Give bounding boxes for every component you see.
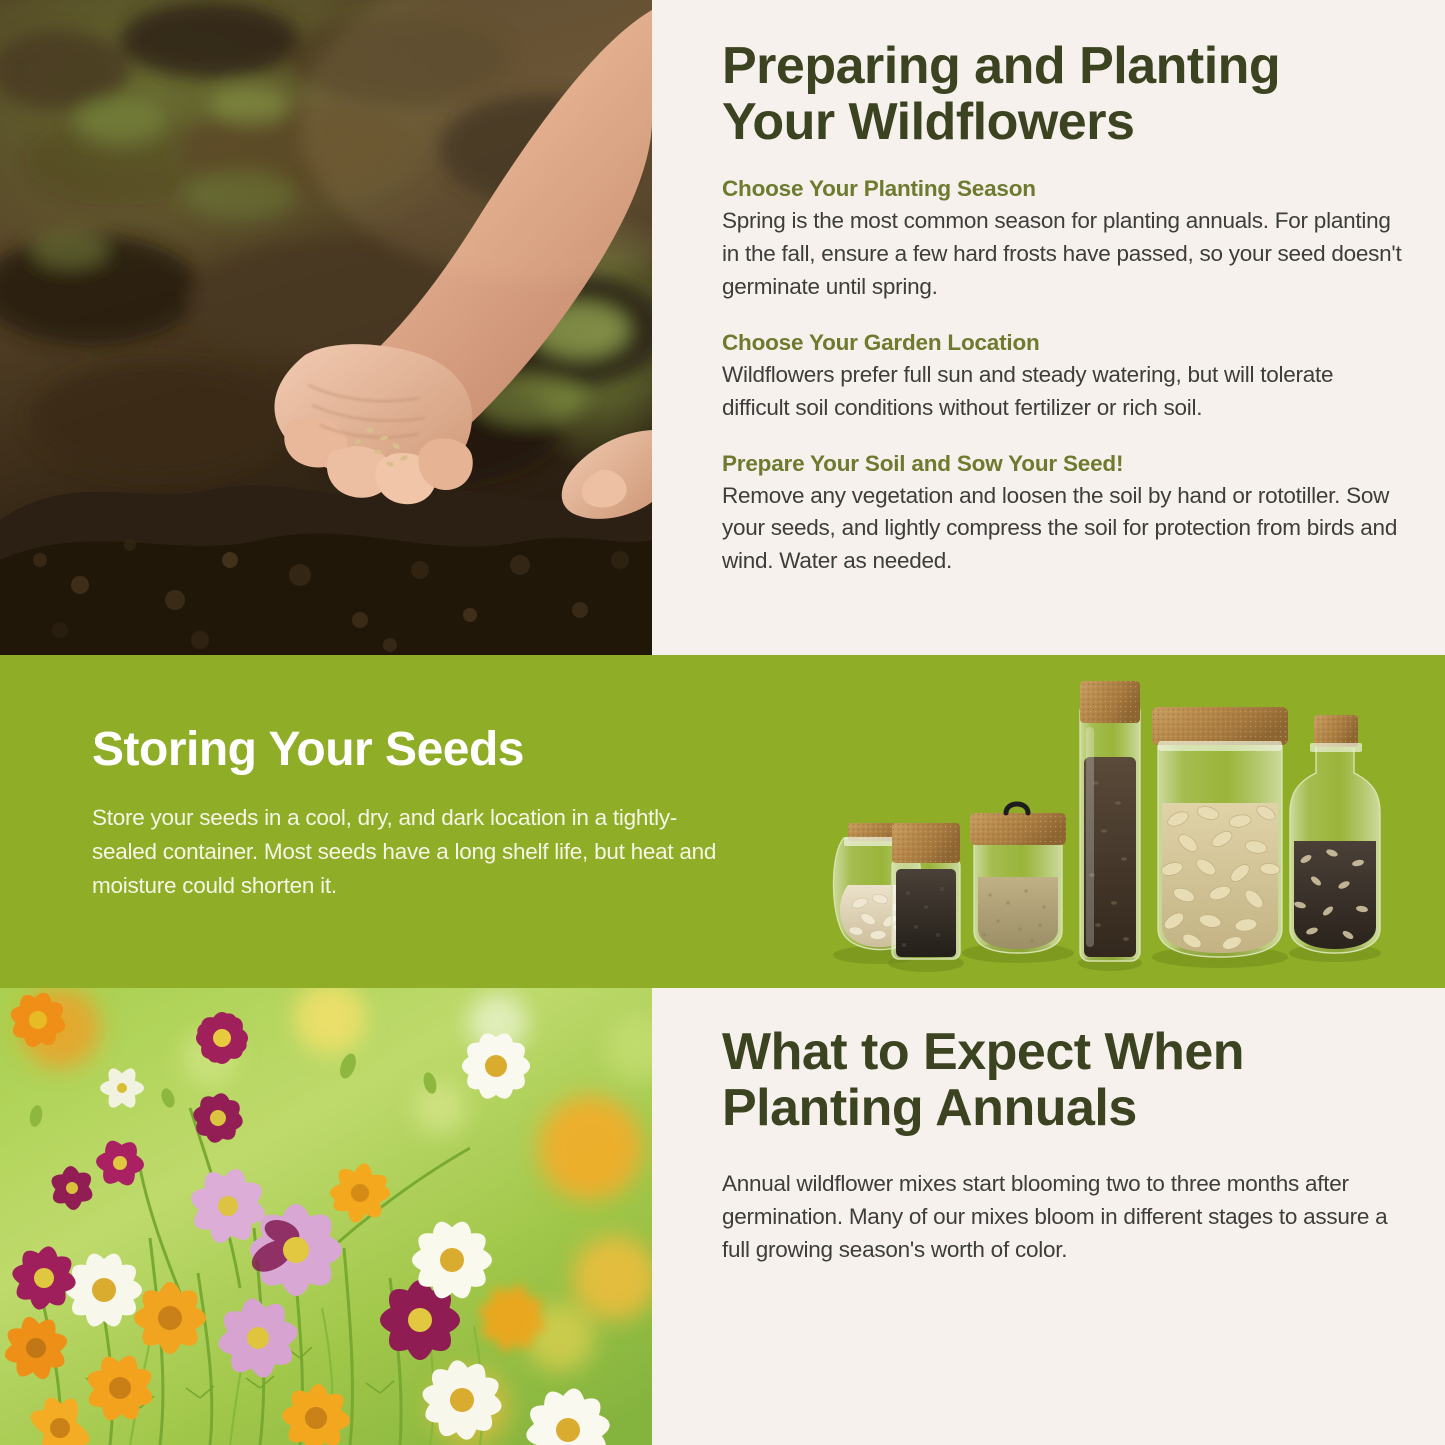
wildflower-photo <box>0 988 652 1445</box>
jar-tan-fine-seeds <box>962 804 1074 963</box>
section-storing-seeds: Storing Your Seeds Store your seeds in a… <box>0 655 1445 988</box>
body-garden-location: Wildflowers prefer full sun and steady w… <box>722 359 1403 425</box>
section-what-to-expect: What to Expect When Planting Annuals Ann… <box>0 988 1445 1445</box>
seed-jars-photo <box>822 663 1392 988</box>
expect-title: What to Expect When Planting Annuals <box>722 1024 1403 1136</box>
preparing-text-column: Preparing and Planting Your Wildflowers … <box>652 0 1445 655</box>
subheading-prepare-soil: Prepare Your Soil and Sow Your Seed! <box>722 451 1403 477</box>
expect-body: Annual wildflower mixes start blooming t… <box>722 1168 1403 1267</box>
section-preparing-planting: Preparing and Planting Your Wildflowers … <box>0 0 1445 655</box>
jar-sunflower-seeds <box>1289 715 1381 962</box>
jar-tall-dark-seeds <box>1078 681 1142 971</box>
wildflower-illustration <box>0 988 652 1445</box>
infographic-page: Preparing and Planting Your Wildflowers … <box>0 0 1445 1445</box>
subheading-garden-location: Choose Your Garden Location <box>722 330 1403 356</box>
seed-jars-illustration <box>822 663 1392 988</box>
jar-pumpkin-seeds <box>1152 707 1288 968</box>
body-prepare-soil: Remove any vegetation and loosen the soi… <box>722 480 1403 579</box>
page-title: Preparing and Planting Your Wildflowers <box>722 38 1403 150</box>
storing-body: Store your seeds in a cool, dry, and dar… <box>92 801 732 902</box>
expect-text-column: What to Expect When Planting Annuals Ann… <box>652 988 1445 1445</box>
subheading-planting-season: Choose Your Planting Season <box>722 176 1403 202</box>
storing-text-column: Storing Your Seeds Store your seeds in a… <box>92 725 732 903</box>
soil-planting-photo <box>0 0 652 655</box>
storing-title: Storing Your Seeds <box>92 725 732 775</box>
jar-black-seeds <box>888 823 964 972</box>
body-planting-season: Spring is the most common season for pla… <box>722 205 1403 304</box>
soil-photo-illustration <box>0 0 652 655</box>
